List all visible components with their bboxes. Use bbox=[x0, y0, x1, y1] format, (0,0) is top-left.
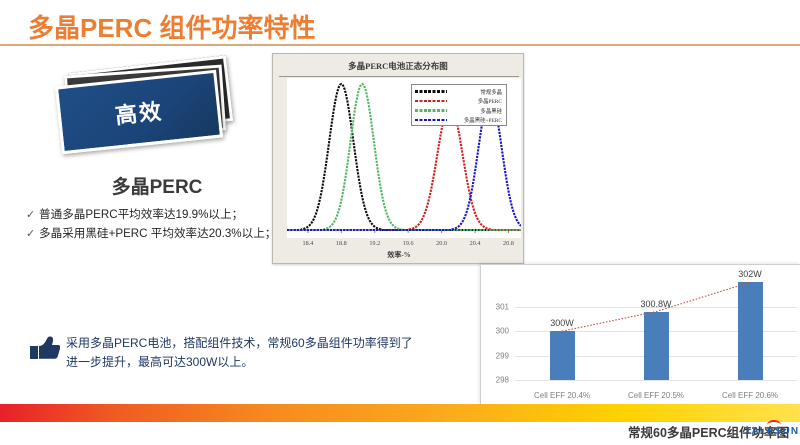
bar-trendline bbox=[481, 265, 800, 405]
page-title: 多晶PERC 组件功率特性 bbox=[28, 8, 315, 45]
card-label: 高效 bbox=[113, 94, 164, 131]
note-line-2: 进一步提升，最高可达300W以上。 bbox=[66, 353, 413, 372]
bullet-text: 多晶采用黑硅+PERC 平均效率达20.3%以上； bbox=[39, 226, 276, 242]
distribution-x-tick-label: 19.2 bbox=[369, 240, 380, 247]
legend-swatch-0 bbox=[415, 90, 447, 93]
legend-label-0: 常规多晶 bbox=[447, 88, 503, 96]
distribution-x-ticks: 18.418.819.219.620.020.420.8 bbox=[287, 240, 521, 250]
distribution-x-tick-label: 19.6 bbox=[403, 240, 414, 247]
section-subheading: 多晶PERC bbox=[52, 172, 262, 199]
note-line-1: 采用多晶PERC电池，搭配组件技术，常规60多晶组件功率得到了 bbox=[66, 334, 413, 353]
callout-note: 采用多晶PERC电池，搭配组件技术，常规60多晶组件功率得到了 进一步提升，最高… bbox=[28, 334, 468, 372]
bar-plot-area: 298299300301300WCell EFF 20.4%300.8WCell… bbox=[481, 265, 800, 405]
legend-entry: 多晶PERC bbox=[415, 97, 503, 106]
legend-label-1: 多晶PERC bbox=[447, 97, 503, 105]
legend-label-2: 多晶黑硅 bbox=[447, 107, 503, 115]
list-item: ✓ 多晶采用黑硅+PERC 平均效率达20.3%以上； bbox=[26, 226, 278, 242]
logo-arc-icon bbox=[767, 420, 781, 425]
thumbs-up-icon bbox=[28, 334, 66, 372]
distribution-title-rule bbox=[279, 76, 519, 77]
distribution-x-tick-label: 18.8 bbox=[336, 240, 347, 247]
distribution-x-tick-label: 20.8 bbox=[503, 240, 514, 247]
module-power-chart-panel: 298299300301300WCell EFF 20.4%300.8WCell… bbox=[480, 264, 800, 405]
legend-label-3: 多晶黑硅+PERC bbox=[447, 116, 503, 124]
distribution-x-tick-label: 20.4 bbox=[470, 240, 481, 247]
footer-gradient-band bbox=[0, 404, 800, 422]
title-divider bbox=[0, 44, 800, 46]
legend-swatch-1 bbox=[415, 100, 447, 103]
check-icon: ✓ bbox=[26, 207, 39, 223]
legend-swatch-2 bbox=[415, 109, 447, 112]
talesun-logo: TALESUN bbox=[745, 420, 799, 440]
highlight-card-stack: 高效 bbox=[52, 62, 242, 167]
distribution-chart-title: 多晶PERC电池正态分布图 bbox=[273, 60, 523, 72]
bullet-text: 普通多晶PERC平均效率达19.9%以上； bbox=[39, 207, 243, 223]
slide-canvas: 多晶PERC 组件功率特性 高效 多晶PERC ✓ 普通多晶PERC平均效率达1… bbox=[0, 0, 800, 445]
list-item: ✓ 普通多晶PERC平均效率达19.9%以上； bbox=[26, 207, 278, 223]
distribution-x-axis-title: 效率-% bbox=[273, 250, 525, 260]
legend-swatch-3 bbox=[415, 119, 447, 122]
distribution-x-tick-label: 20.0 bbox=[436, 240, 447, 247]
distribution-legend: 常规多晶 多晶PERC 多晶黑硅 多晶黑硅+PERC bbox=[411, 84, 507, 126]
distribution-x-tick-label: 18.4 bbox=[302, 240, 313, 247]
distribution-chart-panel: 多晶PERC电池正态分布图 常规多晶 多晶PERC 多晶黑硅 多晶黑硅+PERC bbox=[272, 53, 524, 264]
note-text-block: 采用多晶PERC电池，搭配组件技术，常规60多晶组件功率得到了 进一步提升，最高… bbox=[66, 334, 413, 372]
check-icon: ✓ bbox=[26, 226, 39, 242]
legend-entry: 常规多晶 bbox=[415, 87, 503, 96]
logo-text: TALESUN bbox=[745, 426, 799, 437]
legend-entry: 多晶黑硅+PERC bbox=[415, 116, 503, 125]
legend-entry: 多晶黑硅 bbox=[415, 106, 503, 115]
bullet-list: ✓ 普通多晶PERC平均效率达19.9%以上； ✓ 多晶采用黑硅+PERC 平均… bbox=[26, 207, 278, 245]
